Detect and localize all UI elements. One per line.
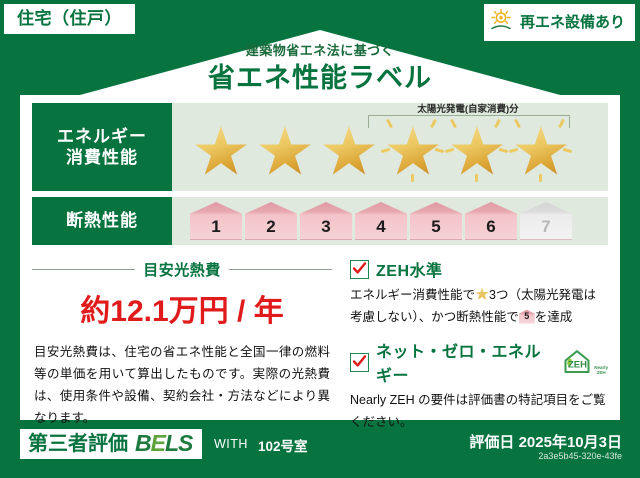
bels-letter-l: L: [165, 430, 178, 456]
renewable-energy-badge: 再エネ設備あり: [484, 4, 635, 41]
zeh-standard-description: エネルギー消費性能で3つ（太陽光発電は考慮しない）、かつ断熱性能で5を達成: [350, 285, 608, 328]
bels-jp-text: 第三者評価: [28, 434, 128, 454]
utility-cost-heading: 目安光熱費: [32, 259, 332, 280]
zeh-netzero-title: ネット・ゼロ・エネルギー: [376, 338, 551, 386]
label-card: エネルギー 消費性能 太陽光発電(自家消費)分: [20, 95, 620, 420]
insulation-level: 3: [300, 202, 352, 240]
utility-cost-value: 約12.1万円 / 年: [32, 286, 332, 330]
zeh-standard-heading: ZEH水準: [350, 257, 608, 281]
room-number: 102号室: [258, 435, 308, 455]
svg-text:ZEH: ZEH: [568, 360, 587, 371]
bels-letter-s: S: [178, 430, 192, 456]
evaluation-date: 評価日 2025年10月3日: [469, 431, 622, 452]
insulation-level: 2: [245, 202, 297, 240]
insulation-level: 1: [190, 202, 242, 240]
star-solar: [446, 119, 508, 181]
zeh-logo-sub2: ZEH: [597, 370, 606, 375]
zeh-standard-block: ZEH水準 エネルギー消費性能で3つ（太陽光発電は考慮しない）、かつ断熱性能で5…: [350, 257, 608, 328]
performance-section: エネルギー 消費性能 太陽光発電(自家消費)分: [32, 103, 608, 251]
inline-house-level: 5: [519, 309, 535, 324]
star-solar: [382, 119, 444, 181]
insulation-level-inactive: 7: [520, 202, 572, 240]
zeh-logo: ZEH Nearly ZEH: [562, 349, 608, 375]
energy-label-line2: 消費性能: [66, 147, 138, 168]
zeh-desc-part3: を達成: [535, 310, 573, 324]
label-header: 住宅（住戸） 再エネ: [0, 0, 640, 100]
lower-section: 目安光熱費 約12.1万円 / 年 目安光熱費は、住宅の省エネ性能と全国一律の燃…: [32, 255, 608, 410]
zeh-desc-part1: エネルギー消費性能で: [350, 288, 475, 302]
solar-bracket-label: 太陽光発電(自家消費)分: [348, 101, 588, 115]
zeh-desc-stars: 3つ（太陽光発電: [489, 288, 583, 302]
zeh-netzero-block: ネット・ゼロ・エネルギー ZEH Nearly ZEH: [350, 338, 608, 433]
zeh-house-logo-icon: ZEH: [562, 349, 592, 375]
utility-cost-note: 目安光熱費は、住宅の省エネ性能と全国一律の燃料等の単価を用いて算出したものです。…: [32, 342, 332, 430]
bels-letter-e: E: [151, 430, 165, 456]
evaluation-id: 2a3e5b45-320e-43fe: [538, 451, 622, 461]
energy-label-line1: エネルギー: [57, 126, 147, 147]
bels-letter-b: B: [135, 430, 151, 456]
divider-right: [229, 269, 332, 271]
bels-logo-text: BELS: [135, 432, 192, 455]
zeh-column: ZEH水準 エネルギー消費性能で3つ（太陽光発電は考慮しない）、かつ断熱性能で5…: [342, 255, 608, 410]
insulation-level: 5: [410, 202, 462, 240]
insulation-performance-value: 1 2 3 4: [172, 197, 608, 245]
divider-left: [32, 269, 135, 271]
star-solar: [510, 119, 572, 181]
energy-performance-label: エネルギー 消費性能: [32, 103, 172, 191]
with-text: WITH: [214, 437, 248, 451]
label-footer: 第三者評価 BELS WITH 102号室 評価日 2025年10月3日 2a3…: [0, 425, 640, 478]
solar-sun-icon: [490, 8, 516, 37]
zeh-standard-title: ZEH水準: [376, 257, 443, 281]
star-rating: [190, 119, 572, 181]
zeh-netzero-checkbox[interactable]: [350, 353, 369, 372]
inline-house-badge: 5: [519, 310, 535, 324]
label-title: 省エネ性能ラベル: [0, 56, 640, 95]
zeh-logo-subtext: Nearly ZEH: [594, 365, 608, 375]
insulation-scale: 1 2 3 4: [190, 202, 572, 240]
insulation-performance-label: 断熱性能: [32, 197, 172, 245]
inline-star-icon: [475, 287, 489, 301]
bels-certification-badge: 第三者評価 BELS: [20, 429, 202, 459]
energy-performance-value: 太陽光発電(自家消費)分: [172, 103, 608, 191]
insulation-performance-row: 断熱性能 1 2 3: [32, 197, 608, 245]
insulation-label-text: 断熱性能: [66, 210, 138, 231]
renewable-badge-label: 再エネ設備あり: [520, 15, 625, 30]
house-type-badge: 住宅（住戸）: [4, 4, 135, 34]
utility-cost-column: 目安光熱費 約12.1万円 / 年 目安光熱費は、住宅の省エネ性能と全国一律の燃…: [32, 255, 342, 410]
insulation-level: 4: [355, 202, 407, 240]
energy-performance-row: エネルギー 消費性能 太陽光発電(自家消費)分: [32, 103, 608, 191]
star-filled: [318, 119, 380, 181]
zeh-standard-checkbox[interactable]: [350, 260, 369, 279]
utility-cost-title: 目安光熱費: [143, 259, 221, 280]
energy-label-root: 住宅（住戸） 再エネ: [0, 0, 640, 478]
insulation-level: 6: [465, 202, 517, 240]
zeh-netzero-heading: ネット・ゼロ・エネルギー ZEH Nearly ZEH: [350, 338, 608, 386]
star-filled: [190, 119, 252, 181]
star-filled: [254, 119, 316, 181]
